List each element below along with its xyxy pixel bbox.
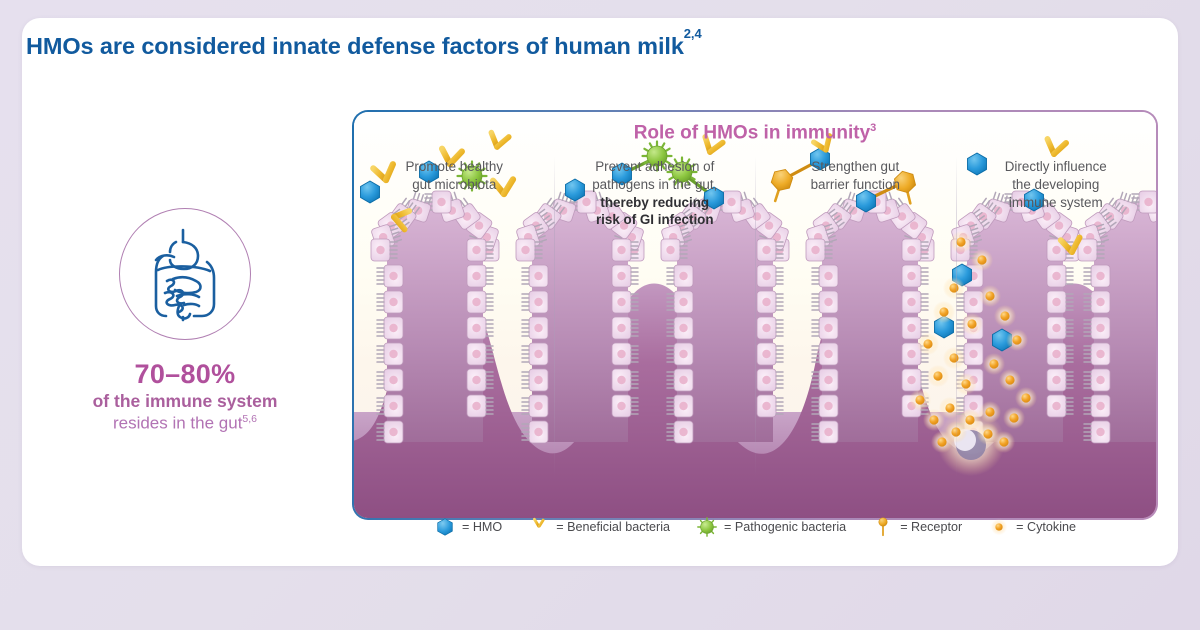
- column-strengthen-gut-barrier-function: Strengthen gut barrier function: [755, 158, 956, 229]
- page-title-text: HMOs are considered innate defense facto…: [26, 33, 684, 59]
- caption-4-line-2: the developing: [964, 176, 1149, 194]
- column-prevent-adhesion-of-pathogens: Prevent adhesion of pathogens in the gut…: [555, 158, 756, 229]
- gut-stat-cluster: 70–80% of the immune system resides in t…: [60, 208, 310, 434]
- caption-2-line-4-bold: risk of GI infection: [596, 212, 714, 227]
- caption-4-line-3: immune system: [964, 194, 1149, 212]
- column-captions: Promote healthy gut microbiota Prevent a…: [354, 158, 1156, 229]
- receptor-icon: [872, 516, 894, 538]
- caption-2-line-3-bold: thereby reducing: [600, 195, 709, 210]
- pathogenic-bacteria-icon: [696, 516, 718, 538]
- column-directly-influence-immune-system: Directly influence the developing immune…: [956, 158, 1157, 229]
- stat-line-2: of the immune system: [60, 391, 310, 411]
- caption-2-line-1: Prevent adhesion of: [563, 158, 748, 176]
- stat-line-3-superscript: 5,6: [242, 413, 257, 425]
- legend-item-beneficial-bacteria: = Beneficial bacteria: [528, 516, 670, 538]
- page-title: HMOs are considered innate defense facto…: [26, 33, 702, 60]
- caption-1: Promote healthy gut microbiota: [362, 158, 547, 194]
- stat-percent: 70–80%: [60, 360, 310, 388]
- gut-icon: [143, 226, 227, 322]
- caption-2-line-4: risk of GI infection: [563, 211, 748, 229]
- caption-2-line-3: thereby reducing: [563, 194, 748, 212]
- caption-3-line-1: Strengthen gut: [763, 158, 948, 176]
- legend-label-hmo: = HMO: [462, 520, 502, 534]
- legend: = HMO = Beneficial bacteria: [352, 516, 1158, 538]
- role-of-hmos-panel: Role of HMOs in immunity3 Promote health…: [352, 110, 1158, 520]
- panel-title-superscript: 3: [870, 122, 876, 134]
- immune-system-stat: 70–80% of the immune system resides in t…: [60, 360, 310, 434]
- hmo-hexagon-icon: [434, 516, 456, 538]
- legend-label-receptor: = Receptor: [900, 520, 962, 534]
- legend-label-beneficial-bacteria: = Beneficial bacteria: [556, 520, 670, 534]
- caption-4-line-1: Directly influence: [964, 158, 1149, 176]
- column-promote-healthy-gut-microbiota: Promote healthy gut microbiota: [354, 158, 555, 229]
- legend-item-cytokine: = Cytokine: [988, 516, 1076, 538]
- panel-inner: Role of HMOs in immunity3 Promote health…: [354, 112, 1156, 518]
- legend-label-cytokine: = Cytokine: [1016, 520, 1076, 534]
- panel-title-text: Role of HMOs in immunity: [634, 122, 870, 143]
- stat-line-3-text: resides in the gut: [113, 414, 242, 433]
- caption-2: Prevent adhesion of pathogens in the gut…: [563, 158, 748, 229]
- legend-item-pathogenic-bacteria: = Pathogenic bacteria: [696, 516, 846, 538]
- caption-3: Strengthen gut barrier function: [763, 158, 948, 194]
- beneficial-bacteria-icon: [528, 516, 550, 538]
- gut-icon-circle: [119, 208, 251, 340]
- caption-2-line-2: pathogens in the gut,: [563, 176, 748, 194]
- legend-item-receptor: = Receptor: [872, 516, 962, 538]
- panel-title: Role of HMOs in immunity3: [354, 122, 1156, 144]
- legend-item-hmo: = HMO: [434, 516, 502, 538]
- caption-1-line-1: Promote healthy: [362, 158, 547, 176]
- caption-4: Directly influence the developing immune…: [964, 158, 1149, 211]
- page-title-superscript: 2,4: [684, 26, 702, 41]
- cytokine-icon: [988, 516, 1010, 538]
- stat-line-3: resides in the gut5,6: [60, 413, 310, 433]
- caption-3-line-2: barrier function: [763, 176, 948, 194]
- caption-1-line-2: gut microbiota: [362, 176, 547, 194]
- legend-label-pathogenic-bacteria: = Pathogenic bacteria: [724, 520, 846, 534]
